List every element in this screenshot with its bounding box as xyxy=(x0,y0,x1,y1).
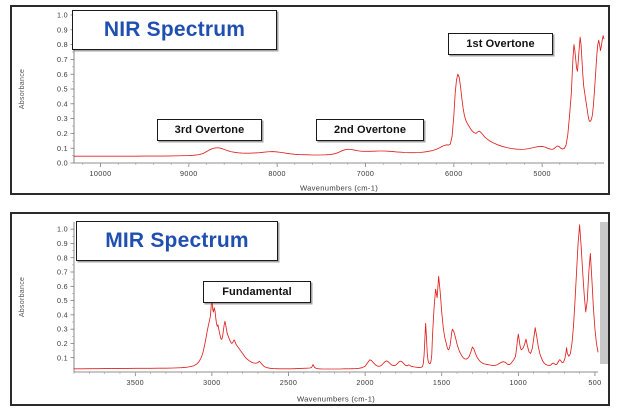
y-tick-label: 0.3 xyxy=(57,325,68,334)
y-tick-label: 1.0 xyxy=(57,11,68,20)
x-tick-label: 7000 xyxy=(357,169,375,178)
y-tick-label: 0.4 xyxy=(57,310,68,319)
x-tick-label: 2500 xyxy=(280,378,298,387)
y-axis-title: Absorbance xyxy=(19,69,26,109)
x-tick-label: 2000 xyxy=(356,378,374,387)
x-tick-label: 3500 xyxy=(126,378,144,387)
spectra-figure: 0.00.10.20.30.40.50.60.70.80.91.01000090… xyxy=(0,0,618,411)
mir-title-text: MIR Spectrum xyxy=(105,229,249,253)
y-tick-label: 0.5 xyxy=(57,85,68,94)
callout-2nd-overtone-text: 2nd Overtone xyxy=(334,124,406,136)
y-tick-label: 0.8 xyxy=(57,253,68,262)
x-tick-label: 8000 xyxy=(268,169,286,178)
x-tick-label: 9000 xyxy=(180,169,198,178)
callout-2nd-overtone: 2nd Overtone xyxy=(316,119,424,141)
callout-3rd-overtone-text: 3rd Overtone xyxy=(175,124,245,136)
y-tick-label: 0.2 xyxy=(57,339,68,348)
x-tick-label: 1000 xyxy=(510,378,528,387)
y-tick-label: 0.5 xyxy=(57,296,68,305)
x-tick-label: 3000 xyxy=(203,378,221,387)
y-tick-label: 0.1 xyxy=(57,144,68,153)
y-tick-label: 0.3 xyxy=(57,114,68,123)
y-tick-label: 0.6 xyxy=(57,282,68,291)
y-tick-label: 0.8 xyxy=(57,40,68,49)
callout-fundamental: Fundamental xyxy=(203,281,311,303)
nir-title-text: NIR Spectrum xyxy=(104,18,245,42)
x-tick-label: 6000 xyxy=(445,169,463,178)
y-tick-label: 0.0 xyxy=(57,159,68,168)
callout-fundamental-text: Fundamental xyxy=(222,286,292,298)
y-tick-label: 0.7 xyxy=(57,55,68,64)
x-axis-title: Wavenumbers (cm-1) xyxy=(300,184,378,193)
y-tick-label: 1.0 xyxy=(57,225,68,234)
y-tick-label: 0.6 xyxy=(57,70,68,79)
y-tick-label: 0.1 xyxy=(57,353,68,362)
y-axis-title: Absorbance xyxy=(19,277,26,317)
panel-right-edge-strip xyxy=(600,222,608,364)
y-tick-label: 0.9 xyxy=(57,25,68,34)
x-tick-label: 500 xyxy=(588,378,601,387)
callout-1st-overtone: 1st Overtone xyxy=(448,33,553,55)
x-tick-label: 10000 xyxy=(90,169,112,178)
x-tick-label: 5000 xyxy=(533,169,551,178)
callout-3rd-overtone: 3rd Overtone xyxy=(157,119,262,141)
x-tick-label: 1500 xyxy=(433,378,451,387)
nir-title-box: NIR Spectrum xyxy=(72,10,277,50)
y-tick-label: 0.2 xyxy=(57,129,68,138)
mir-title-box: MIR Spectrum xyxy=(76,221,278,261)
x-axis-title: Wavenumbers (cm-1) xyxy=(297,395,375,404)
y-tick-label: 0.7 xyxy=(57,268,68,277)
y-tick-label: 0.4 xyxy=(57,99,68,108)
callout-1st-overtone-text: 1st Overtone xyxy=(466,38,534,50)
y-tick-label: 0.9 xyxy=(57,239,68,248)
